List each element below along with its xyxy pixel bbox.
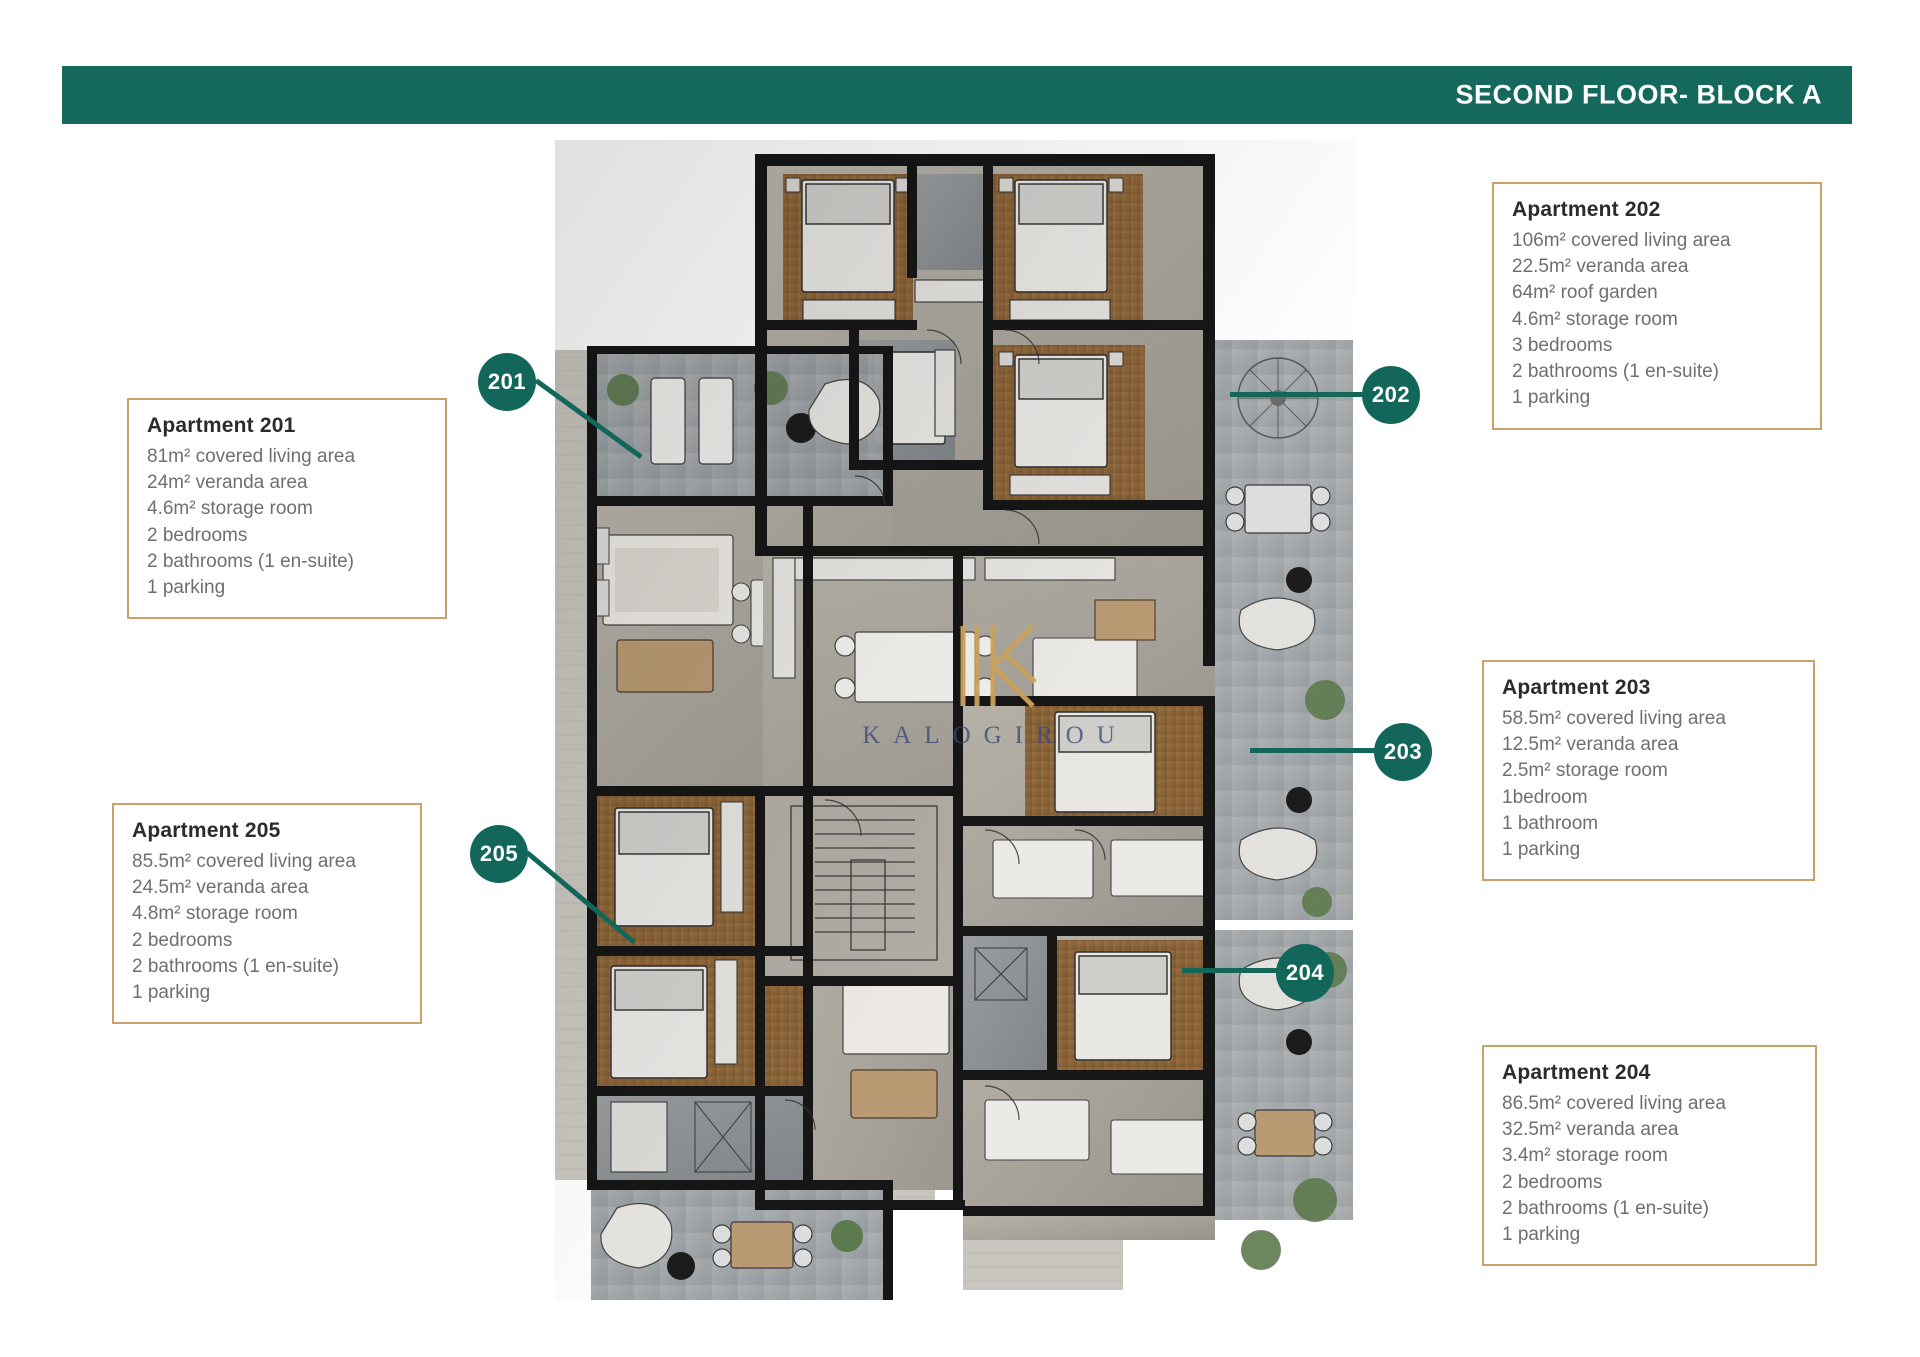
apartment-marker-202[interactable]: 202 (1362, 366, 1420, 424)
header-bar: SECOND FLOOR- BLOCK A (62, 66, 1852, 124)
apartment-spec-line: 2 bedrooms (1502, 1170, 1797, 1196)
apartment-title-204: Apartment 204 (1502, 1061, 1797, 1085)
leader-line-204 (1182, 968, 1280, 973)
apartment-spec-line: 81m² covered living area (147, 444, 427, 470)
apartment-title-201: Apartment 201 (147, 414, 427, 438)
apartment-spec-line: 2 bedrooms (147, 523, 427, 549)
apartment-info-box-204: Apartment 204 86.5m² covered living area… (1482, 1045, 1817, 1266)
apartment-info-box-201: Apartment 201 81m² covered living area 2… (127, 398, 447, 619)
apartment-title-202: Apartment 202 (1512, 198, 1802, 222)
apartment-spec-line: 1 parking (1502, 1222, 1797, 1248)
apartment-spec-line: 64m² roof garden (1512, 280, 1802, 306)
apartment-spec-line: 3.4m² storage room (1502, 1143, 1797, 1169)
apartment-spec-line: 2 bedrooms (132, 928, 402, 954)
apartment-spec-line: 3 bedrooms (1512, 333, 1802, 359)
apartment-title-203: Apartment 203 (1502, 676, 1795, 700)
apartment-spec-line: 106m² covered living area (1512, 228, 1802, 254)
leader-line-203 (1250, 748, 1377, 753)
page-title: SECOND FLOOR- BLOCK A (1456, 80, 1822, 111)
apartment-title-205: Apartment 205 (132, 819, 402, 843)
apartment-info-box-203: Apartment 203 58.5m² covered living area… (1482, 660, 1815, 881)
apartment-marker-201[interactable]: 201 (478, 353, 536, 411)
apartment-spec-line: 2 bathrooms (1 en-suite) (1502, 1196, 1797, 1222)
apartment-marker-203[interactable]: 203 (1374, 723, 1432, 781)
apartment-spec-line: 24m² veranda area (147, 470, 427, 496)
apartment-spec-line: 4.6m² storage room (147, 496, 427, 522)
leader-line-202 (1230, 392, 1365, 397)
apartment-marker-205[interactable]: 205 (470, 825, 528, 883)
apartment-spec-line: 1bedroom (1502, 785, 1795, 811)
apartment-spec-line: 2 bathrooms (1 en-suite) (132, 954, 402, 980)
apartment-spec-line: 58.5m² covered living area (1502, 706, 1795, 732)
apartment-marker-204[interactable]: 204 (1276, 944, 1334, 1002)
apartment-spec-line: 1 parking (147, 575, 427, 601)
floor-plan-drawing (555, 140, 1355, 1300)
apartment-spec-line: 4.6m² storage room (1512, 307, 1802, 333)
apartment-spec-line: 2.5m² storage room (1502, 758, 1795, 784)
apartment-spec-line: 22.5m² veranda area (1512, 254, 1802, 280)
apartment-spec-line: 32.5m² veranda area (1502, 1117, 1797, 1143)
apartment-spec-line: 24.5m² veranda area (132, 875, 402, 901)
apartment-spec-line: 86.5m² covered living area (1502, 1091, 1797, 1117)
apartment-info-box-202: Apartment 202 106m² covered living area … (1492, 182, 1822, 430)
apartment-spec-line: 4.8m² storage room (132, 901, 402, 927)
apartment-spec-line: 1 parking (1512, 385, 1802, 411)
apartment-spec-line: 2 bathrooms (1 en-suite) (147, 549, 427, 575)
floor-plan-svg (555, 140, 1355, 1300)
apartment-spec-line: 1 parking (1502, 837, 1795, 863)
apartment-spec-line: 1 parking (132, 980, 402, 1006)
apartment-spec-line: 12.5m² veranda area (1502, 732, 1795, 758)
apartment-spec-line: 1 bathroom (1502, 811, 1795, 837)
apartment-info-box-205: Apartment 205 85.5m² covered living area… (112, 803, 422, 1024)
apartment-spec-line: 85.5m² covered living area (132, 849, 402, 875)
apartment-spec-line: 2 bathrooms (1 en-suite) (1512, 359, 1802, 385)
